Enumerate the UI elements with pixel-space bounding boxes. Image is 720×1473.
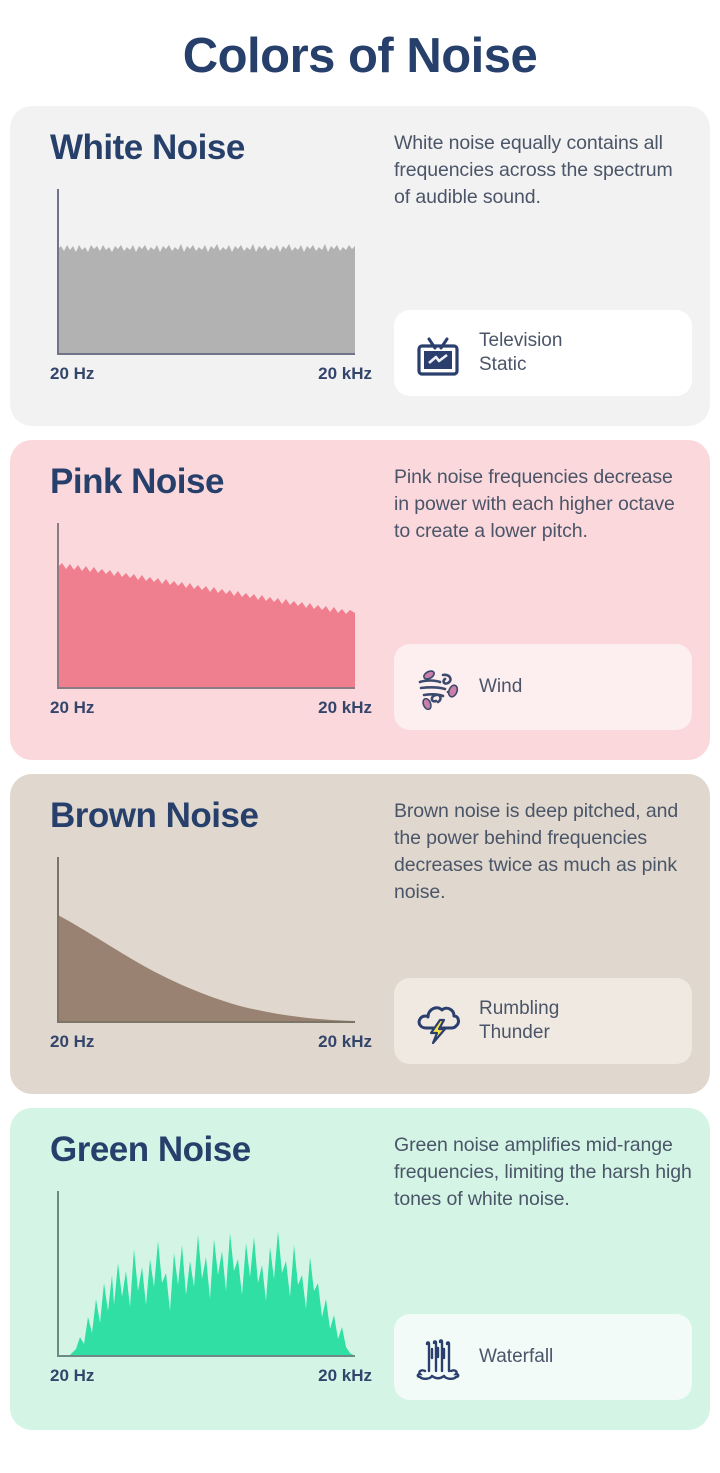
noise-card-green: Green Noise 20 Hz 20 kHz Green noise amp… bbox=[10, 1108, 710, 1430]
page-title: Colors of Noise bbox=[10, 0, 710, 106]
axis-labels: 20 Hz 20 kHz bbox=[50, 1032, 372, 1052]
axis-label-low: 20 Hz bbox=[50, 698, 94, 718]
noise-title: Pink Noise bbox=[50, 462, 390, 502]
spectrum-svg bbox=[50, 853, 365, 1023]
infographic-page: Colors of Noise White Noise 20 Hz 20 kHz… bbox=[0, 0, 720, 1473]
noise-title: Brown Noise bbox=[50, 796, 390, 836]
card-left-column: Brown Noise 20 Hz 20 kHz bbox=[10, 774, 390, 1094]
axis-label-low: 20 Hz bbox=[50, 1032, 94, 1052]
spectrum-plot-pink bbox=[50, 519, 365, 689]
spectrum-plot-green bbox=[50, 1187, 365, 1357]
noise-description: Pink noise frequencies decrease in power… bbox=[394, 464, 692, 545]
axis-label-low: 20 Hz bbox=[50, 1366, 94, 1386]
card-right-column: Pink noise frequencies decrease in power… bbox=[390, 440, 710, 760]
spectrum-plot-white bbox=[50, 185, 365, 355]
spectrum-area-pink bbox=[58, 563, 355, 689]
spectrum-svg bbox=[50, 519, 365, 689]
thunder-cloud-icon bbox=[410, 993, 466, 1049]
card-left-column: Green Noise 20 Hz 20 kHz bbox=[10, 1108, 390, 1430]
noise-card-brown: Brown Noise 20 Hz 20 kHz Brown noise is … bbox=[10, 774, 710, 1094]
example-label: Rumbling Thunder bbox=[479, 997, 589, 1046]
example-label: Television Static bbox=[479, 329, 589, 378]
axis-label-low: 20 Hz bbox=[50, 364, 94, 384]
noise-description: Green noise amplifies mid-range frequenc… bbox=[394, 1132, 692, 1213]
noise-description: Brown noise is deep pitched, and the pow… bbox=[394, 798, 692, 906]
example-label: Waterfall bbox=[479, 1345, 553, 1369]
spectrum-svg bbox=[50, 185, 365, 355]
axis-labels: 20 Hz 20 kHz bbox=[50, 698, 372, 718]
card-left-column: White Noise 20 Hz 20 kHz bbox=[10, 106, 390, 426]
example-label: Wind bbox=[479, 675, 522, 699]
axis-label-high: 20 kHz bbox=[318, 1032, 372, 1052]
waterfall-icon bbox=[410, 1329, 466, 1385]
noise-description: White noise equally contains all frequen… bbox=[394, 130, 692, 211]
noise-title: Green Noise bbox=[50, 1130, 390, 1170]
axis-label-high: 20 kHz bbox=[318, 698, 372, 718]
spectrum-area-brown bbox=[58, 915, 355, 1023]
example-pill-rumbling-thunder[interactable]: Rumbling Thunder bbox=[394, 978, 692, 1064]
spectrum-svg bbox=[50, 1187, 365, 1357]
card-right-column: Brown noise is deep pitched, and the pow… bbox=[390, 774, 710, 1094]
card-right-column: White noise equally contains all frequen… bbox=[390, 106, 710, 426]
spectrum-area-white bbox=[58, 244, 355, 355]
axis-labels: 20 Hz 20 kHz bbox=[50, 364, 372, 384]
television-static-icon bbox=[410, 325, 466, 381]
spectrum-area-green bbox=[58, 1231, 355, 1356]
example-pill-waterfall[interactable]: Waterfall bbox=[394, 1314, 692, 1400]
axis-label-high: 20 kHz bbox=[318, 1366, 372, 1386]
noise-card-white: White Noise 20 Hz 20 kHz White noise equ… bbox=[10, 106, 710, 426]
spectrum-plot-brown bbox=[50, 853, 365, 1023]
axis-labels: 20 Hz 20 kHz bbox=[50, 1366, 372, 1386]
wind-icon bbox=[410, 659, 466, 715]
example-pill-television-static[interactable]: Television Static bbox=[394, 310, 692, 396]
noise-title: White Noise bbox=[50, 128, 390, 168]
card-right-column: Green noise amplifies mid-range frequenc… bbox=[390, 1108, 710, 1430]
example-pill-wind[interactable]: Wind bbox=[394, 644, 692, 730]
axis-label-high: 20 kHz bbox=[318, 364, 372, 384]
card-left-column: Pink Noise 20 Hz 20 kHz bbox=[10, 440, 390, 760]
noise-card-pink: Pink Noise 20 Hz 20 kHz Pink noise frequ… bbox=[10, 440, 710, 760]
